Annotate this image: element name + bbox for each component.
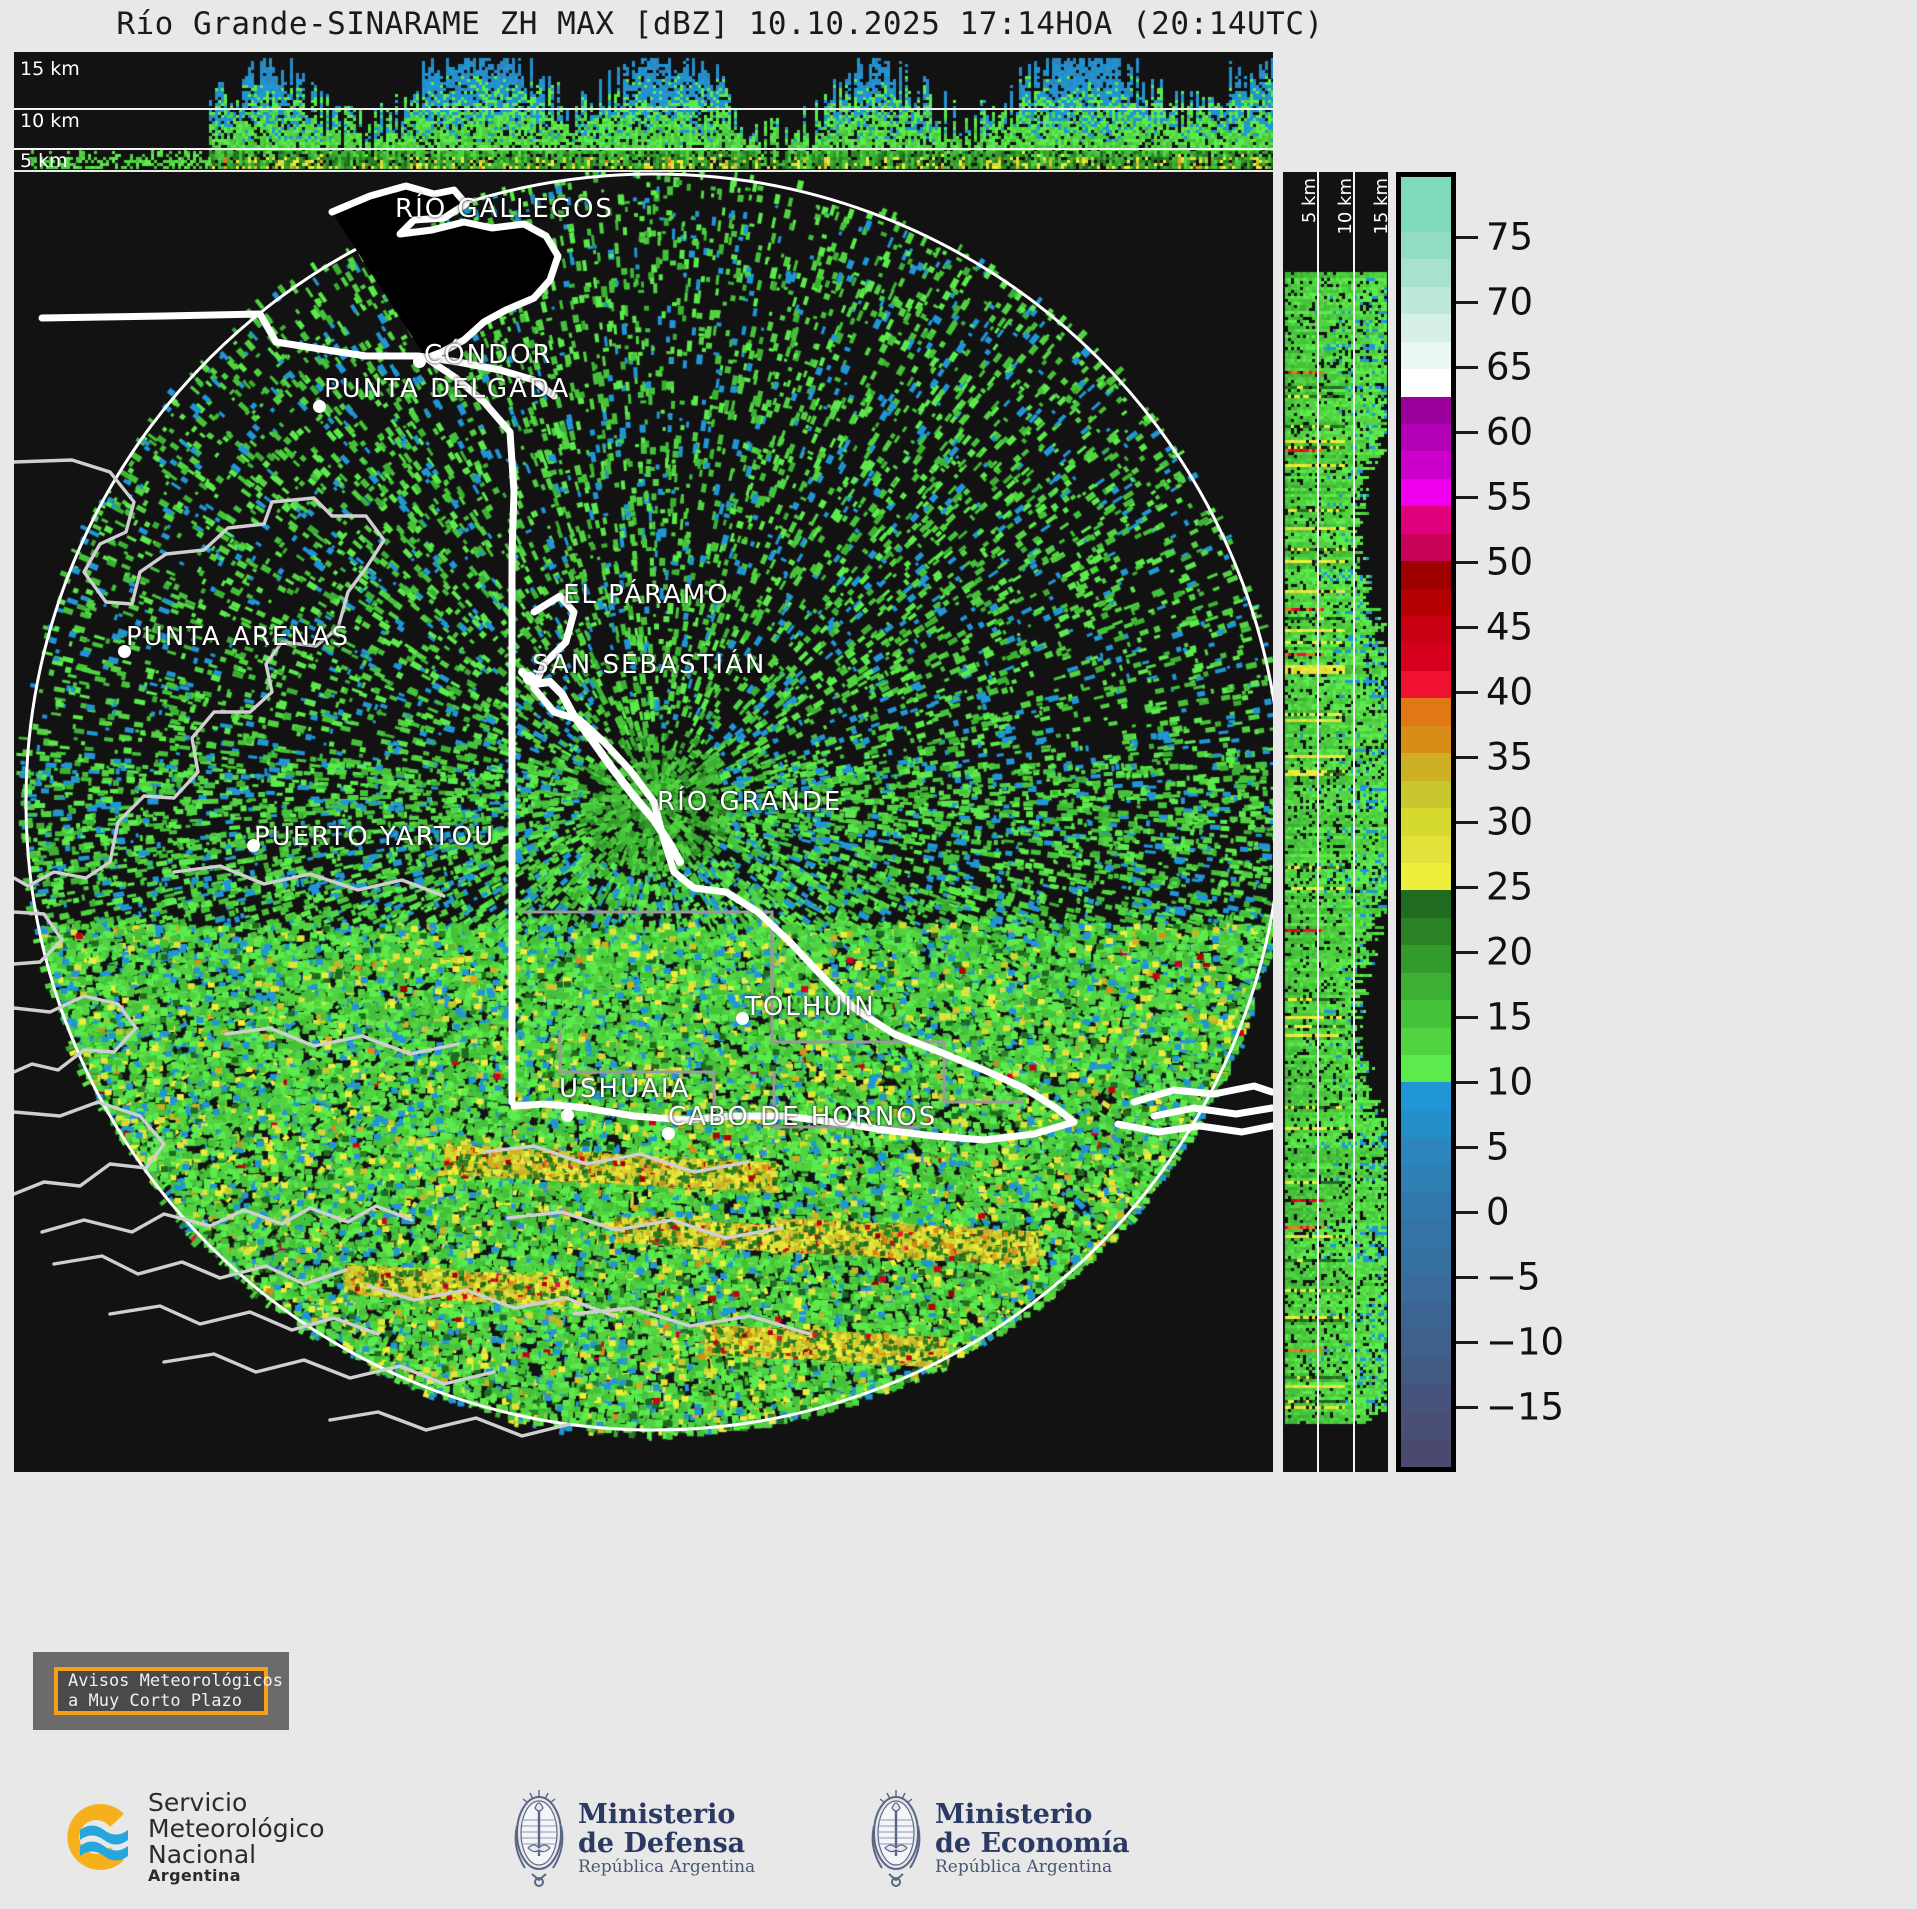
colorbar-segment bbox=[1401, 1412, 1451, 1439]
colorbar-segment bbox=[1401, 314, 1451, 341]
colorbar-tick-label: 0 bbox=[1486, 1191, 1510, 1234]
colorbar-segment bbox=[1401, 1384, 1451, 1411]
smn-line-2: Meteorológico bbox=[148, 1816, 325, 1842]
colorbar-tick bbox=[1456, 951, 1478, 954]
city-marker-dot bbox=[413, 355, 426, 368]
colorbar-segment bbox=[1401, 397, 1451, 424]
island-white-1 bbox=[1134, 1086, 1272, 1102]
colorbar-segment bbox=[1401, 259, 1451, 286]
colorbar-gradient bbox=[1396, 172, 1456, 1472]
map-overlay-vectors bbox=[14, 172, 1273, 1472]
city-marker-dot bbox=[662, 1127, 675, 1140]
colorbar-ticks: 757065605550454035302520151050−5−10−15 bbox=[1456, 172, 1656, 1472]
colorbar-tick bbox=[1456, 1341, 1478, 1344]
colorbar-tick-label: 75 bbox=[1486, 216, 1533, 259]
coastline-11 bbox=[174, 866, 444, 896]
colorbar-segment bbox=[1401, 945, 1451, 972]
coastline-12 bbox=[484, 1146, 748, 1172]
ministerio-defensa-text: Ministerio de Defensa República Argentin… bbox=[578, 1800, 755, 1877]
altitude-gridline-10km bbox=[14, 108, 1273, 110]
colorbar-segment bbox=[1401, 890, 1451, 917]
colorbar-tick-label: 10 bbox=[1486, 1061, 1533, 1104]
colorbar-segment bbox=[1401, 369, 1451, 396]
colorbar-segment bbox=[1401, 342, 1451, 369]
city-label-punta-arenas: PUNTA ARENAS bbox=[126, 622, 350, 652]
colorbar-segment bbox=[1401, 616, 1451, 643]
city-marker-dot bbox=[523, 672, 536, 685]
city-marker-dot bbox=[736, 1012, 749, 1025]
colorbar-tick-label: 5 bbox=[1486, 1126, 1510, 1169]
ministerio-defensa-logo: Ministerio de Defensa República Argentin… bbox=[508, 1786, 755, 1890]
coastline-4 bbox=[42, 1206, 412, 1232]
colorbar-tick bbox=[1456, 431, 1478, 434]
warning-box[interactable]: Avisos Meteorológicos a Muy Corto Plazo bbox=[33, 1652, 289, 1730]
colorbar-segment bbox=[1401, 424, 1451, 451]
colorbar-segment bbox=[1401, 836, 1451, 863]
colorbar-segment bbox=[1401, 1137, 1451, 1164]
right-cross-section-panel: 5 km 10 km 15 km bbox=[1283, 172, 1388, 1472]
city-marker-dot bbox=[313, 400, 326, 413]
colorbar-tick bbox=[1456, 1081, 1478, 1084]
coastline-2 bbox=[14, 996, 136, 1072]
colorbar-tick bbox=[1456, 1276, 1478, 1279]
colorbar-segment bbox=[1401, 1165, 1451, 1192]
city-marker-dot bbox=[118, 645, 131, 658]
colorbar-segment bbox=[1401, 1082, 1451, 1109]
city-label-el-p-ramo: EL PÁRAMO bbox=[563, 580, 730, 610]
colorbar-tick bbox=[1456, 886, 1478, 889]
colorbar-segment bbox=[1401, 918, 1451, 945]
colorbar-segment bbox=[1401, 698, 1451, 725]
colorbar-segment bbox=[1401, 589, 1451, 616]
smn-line-4: Argentina bbox=[148, 1868, 325, 1885]
colorbar-tick-label: −15 bbox=[1486, 1386, 1564, 1429]
colorbar-tick bbox=[1456, 236, 1478, 239]
coastline-3 bbox=[14, 1102, 164, 1194]
colorbar-tick-label: 20 bbox=[1486, 931, 1533, 974]
smn-logo: Servicio Meteorológico Nacional Argentin… bbox=[52, 1790, 325, 1885]
altitude-label-5km: 5 km bbox=[20, 150, 68, 170]
colorbar-segment bbox=[1401, 1055, 1451, 1082]
economia-line-2: de Economía bbox=[935, 1829, 1129, 1858]
colorbar-tick-label: 35 bbox=[1486, 736, 1533, 779]
top-cross-section-panel: 15 km 10 km 5 km bbox=[14, 52, 1273, 170]
smn-line-3: Nacional bbox=[148, 1842, 325, 1868]
coastline-13 bbox=[508, 1212, 782, 1238]
altitude-label-v-5km: 5 km bbox=[1299, 178, 1320, 223]
city-label-san-sebasti-n: SAN SEBASTIÁN bbox=[532, 650, 766, 680]
colorbar-tick-label: 50 bbox=[1486, 541, 1533, 584]
altitude-label-10km: 10 km bbox=[20, 110, 80, 132]
smn-mark-icon bbox=[52, 1794, 138, 1880]
colorbar-tick bbox=[1456, 301, 1478, 304]
colorbar-segment bbox=[1401, 643, 1451, 670]
colorbar-tick bbox=[1456, 1016, 1478, 1019]
colorbar-segment bbox=[1401, 753, 1451, 780]
coastline-14 bbox=[574, 1308, 810, 1334]
colorbar-tick bbox=[1456, 691, 1478, 694]
smn-logo-text: Servicio Meteorológico Nacional Argentin… bbox=[148, 1790, 325, 1885]
city-label-punta-delgada: PUNTA DELGADA bbox=[324, 374, 570, 404]
colorbar-segment bbox=[1401, 232, 1451, 259]
defensa-line-1: Ministerio bbox=[578, 1800, 755, 1829]
ministerio-economia-logo: Ministerio de Economía República Argenti… bbox=[865, 1786, 1129, 1890]
colorbar-segment bbox=[1401, 479, 1451, 506]
island-white-3 bbox=[1118, 1124, 1272, 1132]
colorbar-segment bbox=[1401, 726, 1451, 753]
colorbar-segment bbox=[1401, 1329, 1451, 1356]
colorbar-tick-label: −5 bbox=[1486, 1256, 1541, 1299]
colorbar-tick-label: 15 bbox=[1486, 996, 1533, 1039]
colorbar-segment bbox=[1401, 1000, 1451, 1027]
city-marker-dot bbox=[247, 839, 260, 852]
altitude-gridline-v-10km bbox=[1353, 172, 1355, 1472]
colorbar-tick-label: −10 bbox=[1486, 1321, 1564, 1364]
altitude-label-v-15km: 15 km bbox=[1371, 178, 1388, 235]
city-label-puerto-yartou: PUERTO YARTOU bbox=[254, 822, 495, 852]
colorbar-tick bbox=[1456, 366, 1478, 369]
page-title: Río Grande-SINARAME ZH MAX [dBZ] 10.10.2… bbox=[0, 6, 1440, 42]
colorbar-segment bbox=[1401, 451, 1451, 478]
colorbar-tick-label: 45 bbox=[1486, 606, 1533, 649]
colorbar-segment bbox=[1401, 973, 1451, 1000]
colorbar-segment bbox=[1401, 1220, 1451, 1247]
colorbar-segment bbox=[1401, 863, 1451, 890]
top-cross-section-canvas bbox=[14, 52, 1273, 170]
defensa-line-3: República Argentina bbox=[578, 1858, 755, 1876]
colorbar-segment bbox=[1401, 287, 1451, 314]
city-label-r-o-grande: RÍO GRANDE bbox=[657, 787, 842, 817]
colorbar-segment bbox=[1401, 1028, 1451, 1055]
colorbar-segment bbox=[1401, 506, 1451, 533]
colorbar-tick bbox=[1456, 821, 1478, 824]
colorbar-tick bbox=[1456, 496, 1478, 499]
route-white-2 bbox=[426, 358, 514, 1102]
coastline-5 bbox=[54, 1256, 346, 1284]
altitude-label-v-10km: 10 km bbox=[1335, 178, 1356, 235]
city-label-cabo-de-hornos: CABO DE HORNOS bbox=[668, 1102, 937, 1132]
colorbar: 757065605550454035302520151050−5−10−15 bbox=[1396, 172, 1476, 1472]
altitude-gridline-5km bbox=[14, 148, 1273, 150]
colorbar-segment bbox=[1401, 177, 1451, 204]
smn-line-1: Servicio bbox=[148, 1790, 325, 1816]
colorbar-segment bbox=[1401, 1275, 1451, 1302]
ministerio-economia-text: Ministerio de Economía República Argenti… bbox=[935, 1800, 1129, 1877]
colorbar-tick-label: 65 bbox=[1486, 346, 1533, 389]
city-marker-dot bbox=[561, 1109, 574, 1122]
warning-line-1: Avisos Meteorológicos bbox=[68, 1671, 254, 1691]
warning-line-2: a Muy Corto Plazo bbox=[68, 1691, 254, 1711]
city-label-c-ndor: CÓNDOR bbox=[424, 340, 553, 370]
coastline-8 bbox=[330, 1412, 570, 1436]
colorbar-segment bbox=[1401, 808, 1451, 835]
colorbar-tick-label: 60 bbox=[1486, 411, 1533, 454]
colorbar-segment bbox=[1401, 561, 1451, 588]
economia-line-3: República Argentina bbox=[935, 1858, 1129, 1876]
colorbar-tick-label: 55 bbox=[1486, 476, 1533, 519]
colorbar-segment bbox=[1401, 1192, 1451, 1219]
coastline-7 bbox=[164, 1354, 494, 1384]
colorbar-segment bbox=[1401, 1302, 1451, 1329]
warning-box-inner: Avisos Meteorológicos a Muy Corto Plazo bbox=[54, 1667, 268, 1715]
colorbar-segment bbox=[1401, 534, 1451, 561]
colorbar-tick-label: 25 bbox=[1486, 866, 1533, 909]
island-white-2 bbox=[1154, 1108, 1272, 1116]
city-label-ushuaia: USHUAIA bbox=[559, 1074, 690, 1104]
altitude-gridline-v-5km bbox=[1317, 172, 1319, 1472]
city-label-r-o-gallegos: RÍO GALLEGOS bbox=[395, 194, 614, 224]
colorbar-tick-label: 70 bbox=[1486, 281, 1533, 324]
colorbar-tick bbox=[1456, 626, 1478, 629]
colorbar-segment bbox=[1401, 1439, 1451, 1466]
economia-line-1: Ministerio bbox=[935, 1800, 1129, 1829]
colorbar-tick bbox=[1456, 1406, 1478, 1409]
defensa-line-2: de Defensa bbox=[578, 1829, 755, 1858]
colorbar-segment bbox=[1401, 1110, 1451, 1137]
range-ring bbox=[26, 174, 1273, 1430]
argentina-coat-of-arms-icon bbox=[508, 1786, 570, 1890]
colorbar-tick bbox=[1456, 561, 1478, 564]
coastline-10 bbox=[226, 1028, 458, 1054]
colorbar-segment bbox=[1401, 1247, 1451, 1274]
altitude-label-15km: 15 km bbox=[20, 58, 80, 80]
coastline-9 bbox=[368, 1286, 614, 1316]
city-label-tolhuin: TOLHUIN bbox=[745, 992, 876, 1022]
colorbar-segment bbox=[1401, 1357, 1451, 1384]
colorbar-segment bbox=[1401, 204, 1451, 231]
footer-logo-bar: Servicio Meteorológico Nacional Argentin… bbox=[0, 1772, 1917, 1909]
argentina-coat-of-arms-icon-2 bbox=[865, 1786, 927, 1890]
radar-ppi-panel[interactable]: RÍO GALLEGOSCÓNDORPUNTA DELGADAPUNTA ARE… bbox=[14, 172, 1273, 1472]
coastline-6 bbox=[110, 1306, 378, 1334]
colorbar-tick bbox=[1456, 1146, 1478, 1149]
right-cross-section-canvas bbox=[1283, 172, 1388, 1472]
colorbar-segment bbox=[1401, 781, 1451, 808]
colorbar-tick-label: 40 bbox=[1486, 671, 1533, 714]
colorbar-tick-label: 30 bbox=[1486, 801, 1533, 844]
colorbar-tick bbox=[1456, 1211, 1478, 1214]
colorbar-tick bbox=[1456, 756, 1478, 759]
colorbar-segment bbox=[1401, 671, 1451, 698]
